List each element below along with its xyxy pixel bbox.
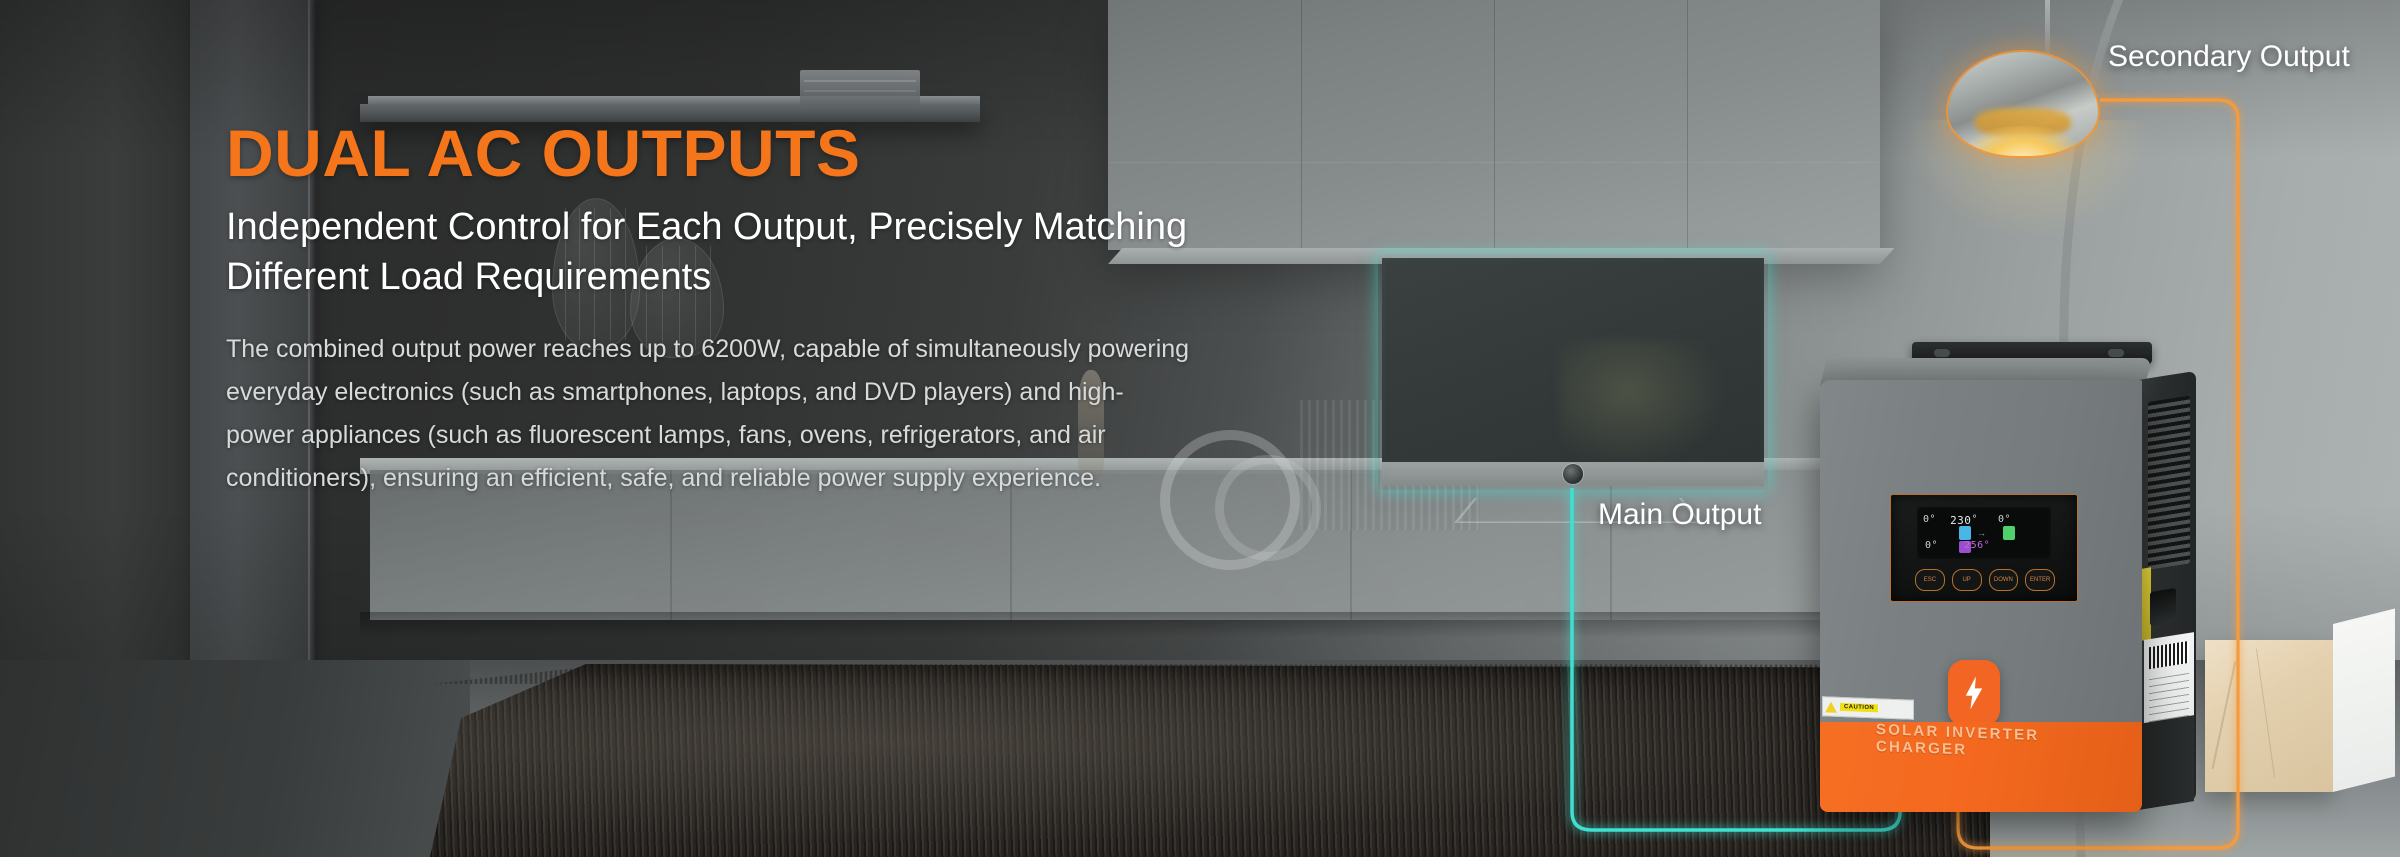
- ventilation-grille: [2148, 395, 2190, 570]
- lcd-top-left-unit: °: [1930, 515, 1937, 525]
- callout-main-output: Main Output: [1598, 498, 1761, 532]
- lcd-bottom-center-value: 256: [1964, 541, 1984, 551]
- solar-inverter-charger: 0 ° 230 ° 0 ° → 0 ° 256 °: [1820, 340, 2200, 810]
- lcd-button-enter[interactable]: ENTER: [2025, 569, 2055, 591]
- control-panel: 0 ° 230 ° 0 ° → 0 ° 256 °: [1890, 494, 2078, 602]
- shelf-books: [800, 70, 920, 106]
- lcd-top-center-unit: °: [1971, 515, 1978, 525]
- caution-label: CAUTION: [1822, 696, 1914, 720]
- shag-area-rug: [430, 664, 1990, 857]
- lcd-button-esc[interactable]: ESC: [1915, 569, 1945, 591]
- lcd-button-down[interactable]: DOWN: [1989, 569, 2019, 591]
- inverter-base-side: [2138, 715, 2194, 810]
- subheading: Independent Control for Each Output, Pre…: [226, 202, 1316, 302]
- lcd-top-center-value: 230: [1950, 515, 1971, 526]
- caution-label-text: CAUTION: [1840, 703, 1878, 712]
- page-title: DUAL AC OUTPUTS: [226, 120, 1346, 186]
- control-buttons: ESC UP DOWN ENTER: [1915, 569, 2055, 591]
- lcd-bottom-center-unit: °: [1984, 541, 1991, 551]
- console-shadow: [360, 612, 1830, 638]
- copy-block: DUAL AC OUTPUTS Independent Control for …: [226, 120, 1346, 500]
- lcd-top-right-unit: °: [2005, 515, 2012, 525]
- television-highlight-outline: [1378, 254, 1768, 490]
- callout-secondary-output: Secondary Output: [2108, 40, 2350, 74]
- lcd-bottom-left-unit: °: [1932, 541, 1939, 551]
- lcd-display: 0 ° 230 ° 0 ° → 0 ° 256 °: [1917, 507, 2051, 559]
- power-switch[interactable]: [2150, 588, 2176, 626]
- lightning-bolt-icon: [1948, 660, 2000, 726]
- floor-shadow-left: [0, 660, 470, 857]
- lcd-button-up[interactable]: UP: [1952, 569, 1982, 591]
- product-feature-banner: 0 ° 230 ° 0 ° → 0 ° 256 °: [0, 0, 2400, 857]
- body-paragraph: The combined output power reaches up to …: [226, 328, 1191, 500]
- warning-triangle-icon: [1825, 701, 1837, 712]
